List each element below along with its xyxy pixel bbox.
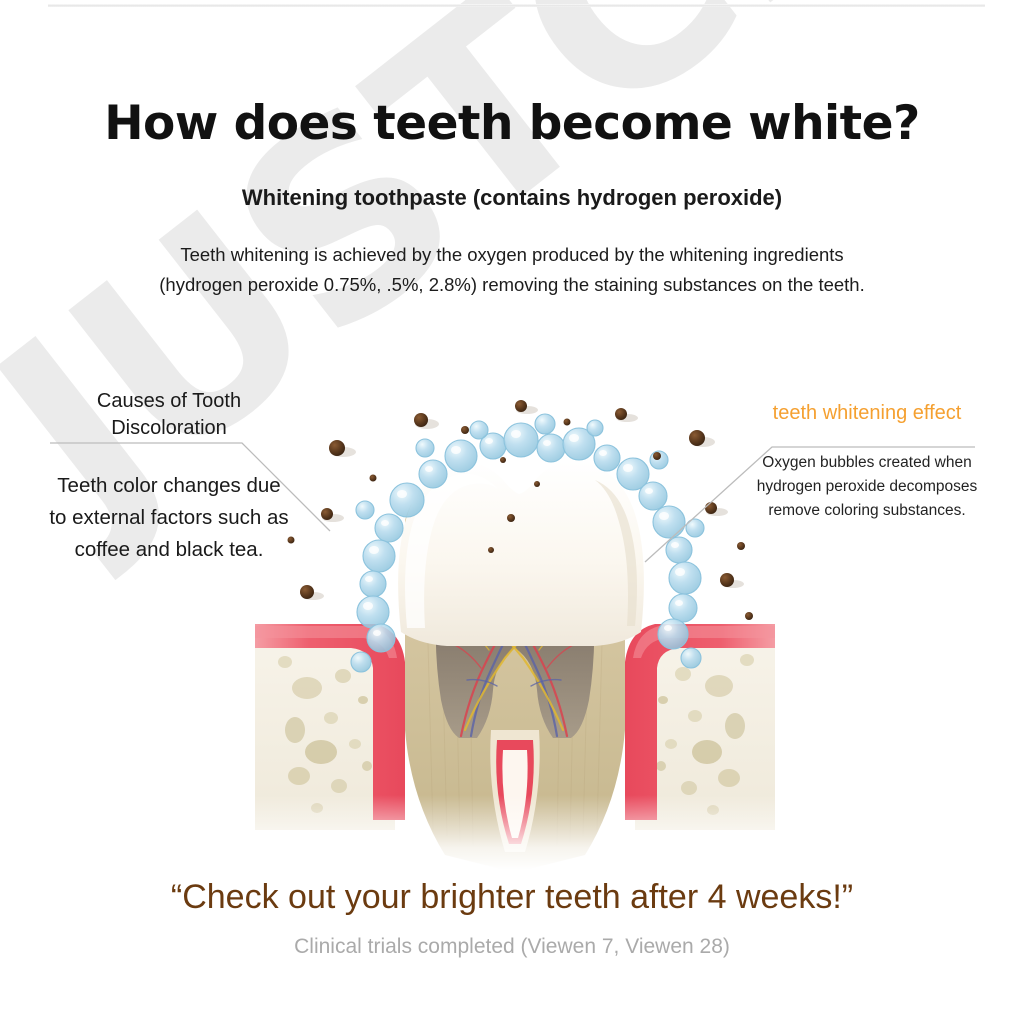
annotation-right: teeth whitening effect Oxygen bubbles cr… — [748, 400, 986, 523]
bottom-fade — [255, 795, 775, 870]
tooth-illustration — [255, 400, 775, 870]
intro-line-1: Teeth whitening is achieved by the oxyge… — [180, 244, 843, 265]
page-title: How does teeth become white? — [0, 96, 1024, 151]
top-divider — [48, 4, 985, 7]
annotation-right-body: Oxygen bubbles created when hydrogen per… — [748, 451, 986, 523]
closing-quote: “Check out your brighter teeth after 4 w… — [0, 878, 1024, 917]
infographic-page: JUSTCLICK How does teeth become white? W… — [0, 0, 1024, 1024]
intro-line-2: (hydrogen peroxide 0.75%, .5%, 2.8%) rem… — [159, 274, 864, 295]
page-subtitle: Whitening toothpaste (contains hydrogen … — [0, 185, 1024, 211]
annotation-left-body: Teeth color changes due to external fact… — [46, 470, 292, 566]
annotation-left: Causes of Tooth Discoloration Teeth colo… — [46, 388, 292, 566]
annotation-left-heading: Causes of Tooth Discoloration — [46, 388, 292, 442]
intro-paragraph: Teeth whitening is achieved by the oxyge… — [95, 240, 929, 300]
clinical-trials-note: Clinical trials completed (Viewen 7, Vie… — [0, 935, 1024, 959]
annotation-right-heading: teeth whitening effect — [748, 400, 986, 426]
